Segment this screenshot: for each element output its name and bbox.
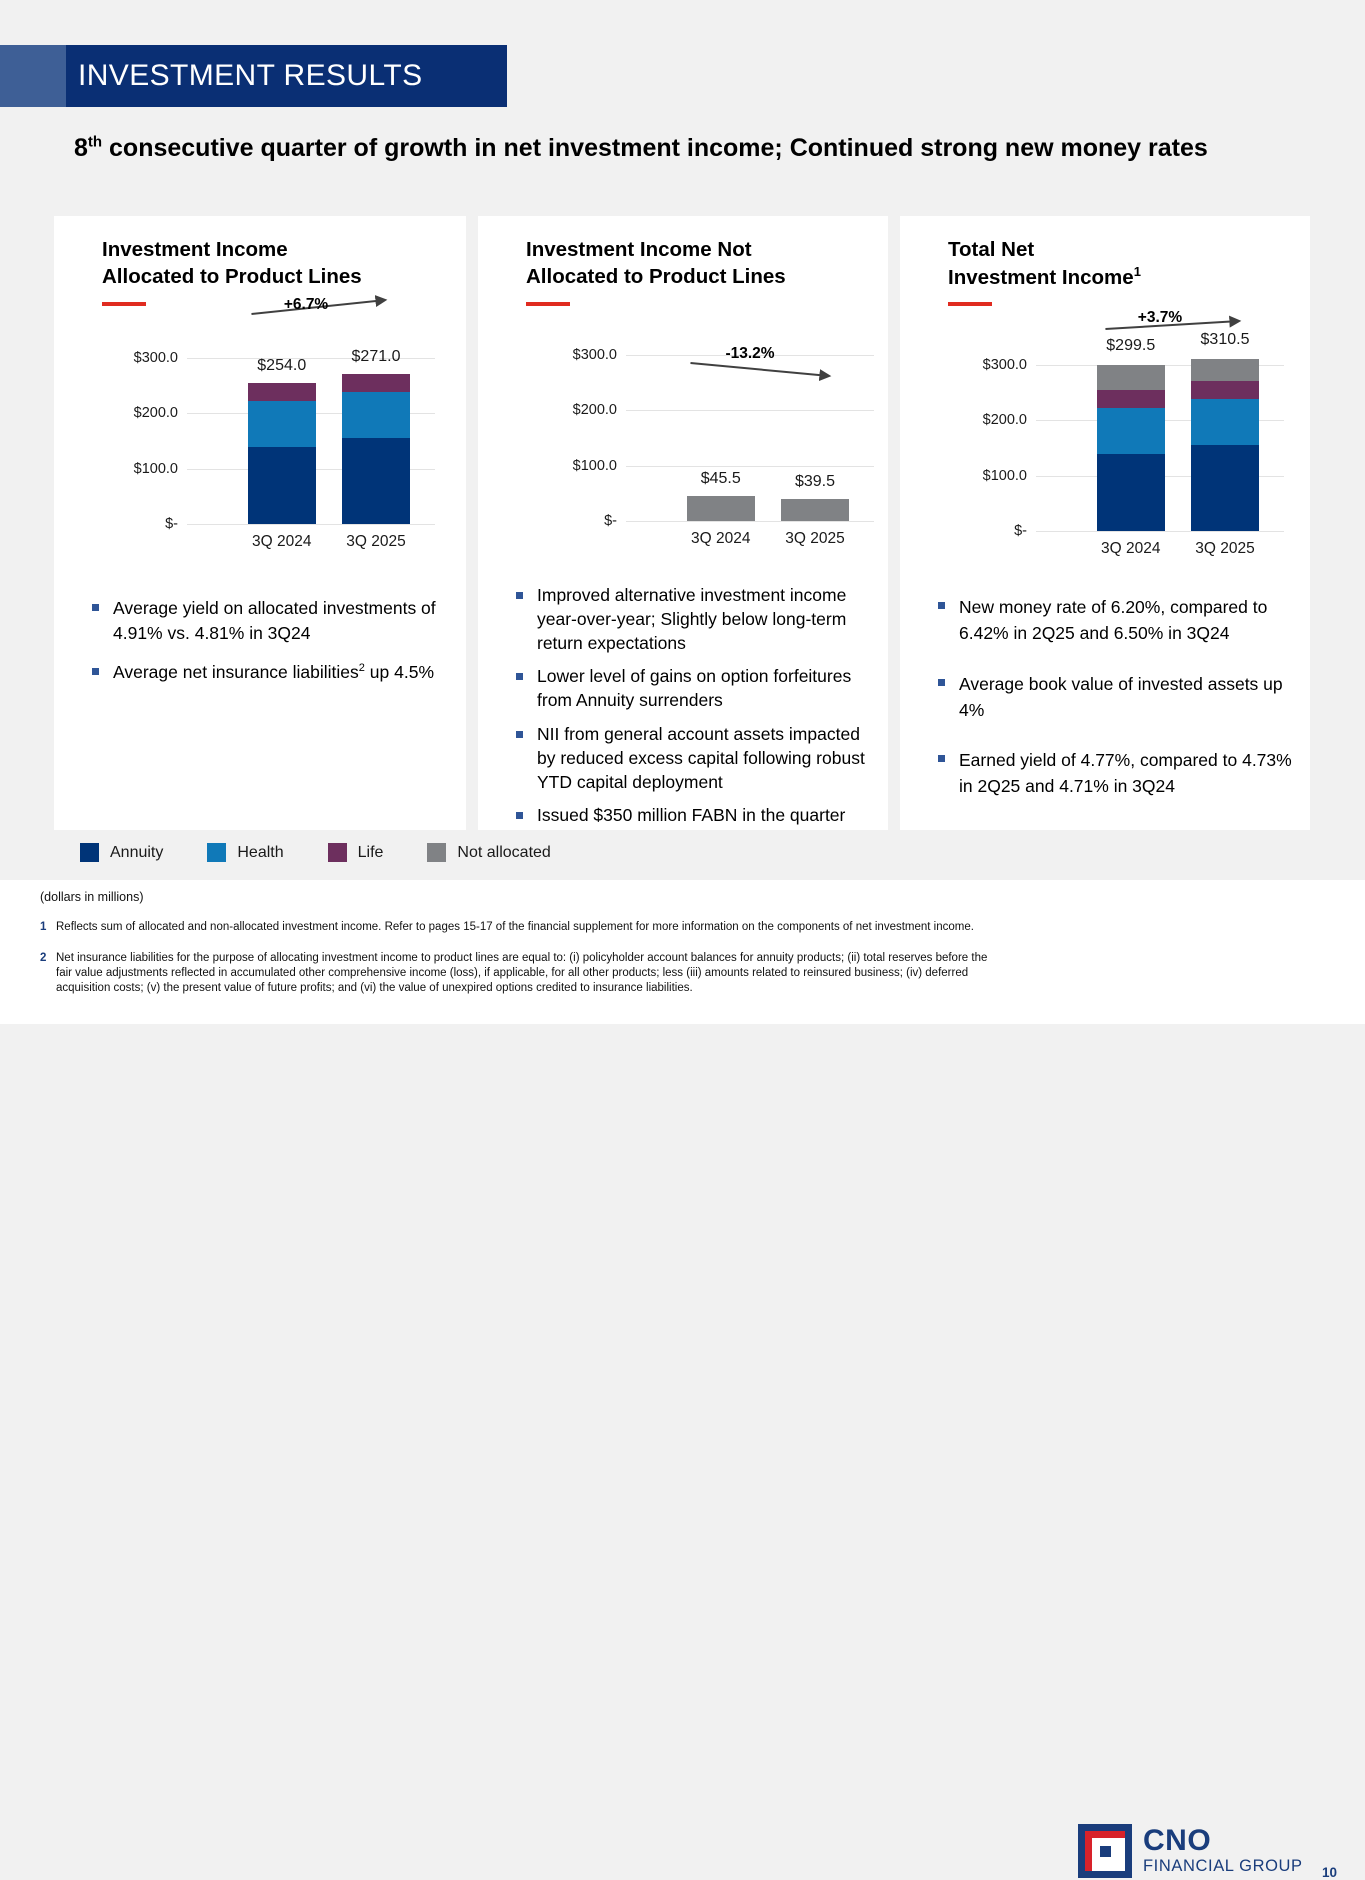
chart-total-net: $-$100.0$200.0$300.0$299.53Q 2024$310.53… [900,320,1310,570]
legend-swatch-icon [328,843,347,862]
plot-area: $-$100.0$200.0$300.0$254.03Q 2024$271.03… [187,358,435,524]
list-item: Earned yield of 4.77%, compared to 4.73%… [938,747,1296,800]
bullet-text: Average book value of invested assets up… [959,671,1296,724]
cno-logo-mark-icon [1078,1824,1132,1878]
slide-subtitle: 8th consecutive quarter of growth in net… [74,132,1274,164]
gridline [187,524,435,525]
list-item: Average net insurance liabilities2 up 4.… [92,660,452,685]
panel-total-net-investment-income: Total Net Investment Income1 $-$100.0$20… [900,216,1310,830]
x-axis-tick-label: 3Q 2025 [785,530,844,548]
y-axis-tick-label: $- [165,516,178,532]
panel-title-line1: Total Net [948,238,1034,261]
footnote-text: Net insurance liabilities for the purpos… [56,951,992,997]
growth-arrow-icon [1036,365,1284,531]
x-axis-tick-label: 3Q 2024 [691,530,750,548]
bullet-text: Average yield on allocated investments o… [113,596,452,646]
bullet-text-tail: up 4.5% [365,662,434,682]
legend-label: Annuity [110,844,163,862]
x-axis-tick-label: 3Q 2024 [252,533,311,551]
list-item: New money rate of 6.20%, compared to 6.4… [938,594,1296,647]
panel-title-line2: Allocated to Product Lines [526,265,786,288]
chart-allocated: $-$100.0$200.0$300.0$254.03Q 2024$271.03… [54,320,466,570]
bullet-marker-icon [516,592,523,599]
bullet-marker-icon [938,679,945,686]
gridline [1036,531,1284,532]
bullet-list: Average yield on allocated investments o… [92,596,452,699]
subtitle-ordinal: th [88,134,102,151]
bullet-marker-icon [938,755,945,762]
slide-header: INVESTMENT RESULTS [0,45,507,107]
bullet-text: Average net insurance liabilities2 up 4.… [113,660,434,685]
logo-primary-text: CNO [1143,1826,1303,1856]
title-underline-rule [526,302,570,306]
bullet-text: Improved alternative investment income y… [537,584,874,655]
subtitle-rest: consecutive quarter of growth in net inv… [102,134,1208,162]
bullet-text: Issued $350 million FABN in the quarter [537,804,845,828]
y-axis-tick-label: $- [1014,523,1027,539]
legend-swatch-icon [80,843,99,862]
list-item: Issued $350 million FABN in the quarter [516,804,874,828]
growth-arrow-icon [187,358,435,524]
panel-title-line1: Investment Income Not [526,238,752,261]
gridline [626,521,874,522]
legend-item-not-allocated: Not allocated [427,843,550,862]
growth-rate-label: +6.7% [284,296,328,314]
y-axis-tick-label: $300.0 [573,347,617,363]
legend-item-health: Health [207,843,283,862]
y-axis-tick-label: $100.0 [983,468,1027,484]
panel-title: Investment Income Allocated to Product L… [102,236,452,291]
panel-title-footnote-ref: 1 [1134,264,1141,279]
logo-secondary-text: FINANCIAL GROUP [1143,1856,1303,1877]
bullet-text: New money rate of 6.20%, compared to 6.4… [959,594,1296,647]
list-item: NII from general account assets impacted… [516,723,874,794]
y-axis-tick-label: $100.0 [573,458,617,474]
list-item: Improved alternative investment income y… [516,584,874,655]
legend-label: Not allocated [457,844,550,862]
panel-investment-income-allocated: Investment Income Allocated to Product L… [54,216,466,830]
panel-title: Investment Income Not Allocated to Produ… [526,236,874,291]
title-underline-rule [948,302,992,306]
list-item: Lower level of gains on option forfeitur… [516,665,874,713]
bar-value-label: $299.5 [1106,337,1155,355]
bullet-marker-icon [92,668,99,675]
legend-label: Life [358,844,384,862]
plot-area: $-$100.0$200.0$300.0$45.53Q 2024$39.53Q … [626,355,874,521]
panel-title-line1: Investment Income [102,238,288,261]
y-axis-tick-label: $- [604,513,617,529]
panel-title-line2: Allocated to Product Lines [102,265,362,288]
bullet-list: Improved alternative investment income y… [516,584,874,838]
bullet-text: NII from general account assets impacted… [537,723,874,794]
logo-center-square [1100,1846,1111,1857]
header-accent-bar [0,45,66,107]
bullet-marker-icon [516,812,523,819]
bullet-marker-icon [516,731,523,738]
y-axis-tick-label: $300.0 [983,357,1027,373]
y-axis-tick-label: $200.0 [134,405,178,421]
y-axis-tick-label: $300.0 [134,350,178,366]
logo-wordmark: CNO FINANCIAL GROUP [1143,1826,1303,1877]
chart-not-allocated: $-$100.0$200.0$300.0$45.53Q 2024$39.53Q … [478,320,888,570]
growth-rate-label: -13.2% [725,345,774,363]
page-number: 10 [1322,1865,1337,1880]
y-axis-tick-label: $100.0 [134,461,178,477]
chart-legend: AnnuityHealthLifeNot allocated [80,843,595,862]
bullet-list: New money rate of 6.20%, compared to 6.4… [938,594,1296,824]
footnote-text: Reflects sum of allocated and non-alloca… [56,920,985,935]
plot-area: $-$100.0$200.0$300.0$299.53Q 2024$310.53… [1036,365,1284,531]
legend-swatch-icon [427,843,446,862]
list-item: Average yield on allocated investments o… [92,596,452,646]
footnote-1: 1 Reflects sum of allocated and non-allo… [40,920,985,935]
bullet-marker-icon [938,602,945,609]
cno-logo: CNO FINANCIAL GROUP [1078,1824,1303,1878]
slide-footer: (dollars in millions) 1 Reflects sum of … [0,880,1365,1024]
panel-title: Total Net Investment Income1 [948,236,1296,291]
bullet-marker-icon [516,673,523,680]
subtitle-prefix: 8 [74,134,88,162]
footnote-2: 2 Net insurance liabilities for the purp… [40,951,992,997]
x-axis-tick-label: 3Q 2025 [346,533,405,551]
panel-investment-income-not-allocated: Investment Income Not Allocated to Produ… [478,216,888,830]
footnote-number: 2 [40,951,56,997]
units-note: (dollars in millions) [40,890,144,904]
panel-title-line2: Investment Income [948,266,1134,289]
legend-label: Health [237,844,283,862]
x-axis-tick-label: 3Q 2025 [1195,540,1254,558]
page-title: INVESTMENT RESULTS [78,45,422,107]
bullet-text: Earned yield of 4.77%, compared to 4.73%… [959,747,1296,800]
x-axis-tick-label: 3Q 2024 [1101,540,1160,558]
bar-value-label: $310.5 [1201,331,1250,349]
y-axis-tick-label: $200.0 [983,412,1027,428]
bullet-marker-icon [92,604,99,611]
legend-item-life: Life [328,843,384,862]
growth-arrow-icon [626,355,874,521]
legend-swatch-icon [207,843,226,862]
y-axis-tick-label: $200.0 [573,402,617,418]
title-underline-rule [102,302,146,306]
footnote-number: 1 [40,920,56,935]
legend-item-annuity: Annuity [80,843,163,862]
list-item: Average book value of invested assets up… [938,671,1296,724]
bullet-text: Lower level of gains on option forfeitur… [537,665,874,713]
bullet-text-main: Average net insurance liabilities [113,662,359,682]
growth-rate-label: +3.7% [1138,309,1182,327]
